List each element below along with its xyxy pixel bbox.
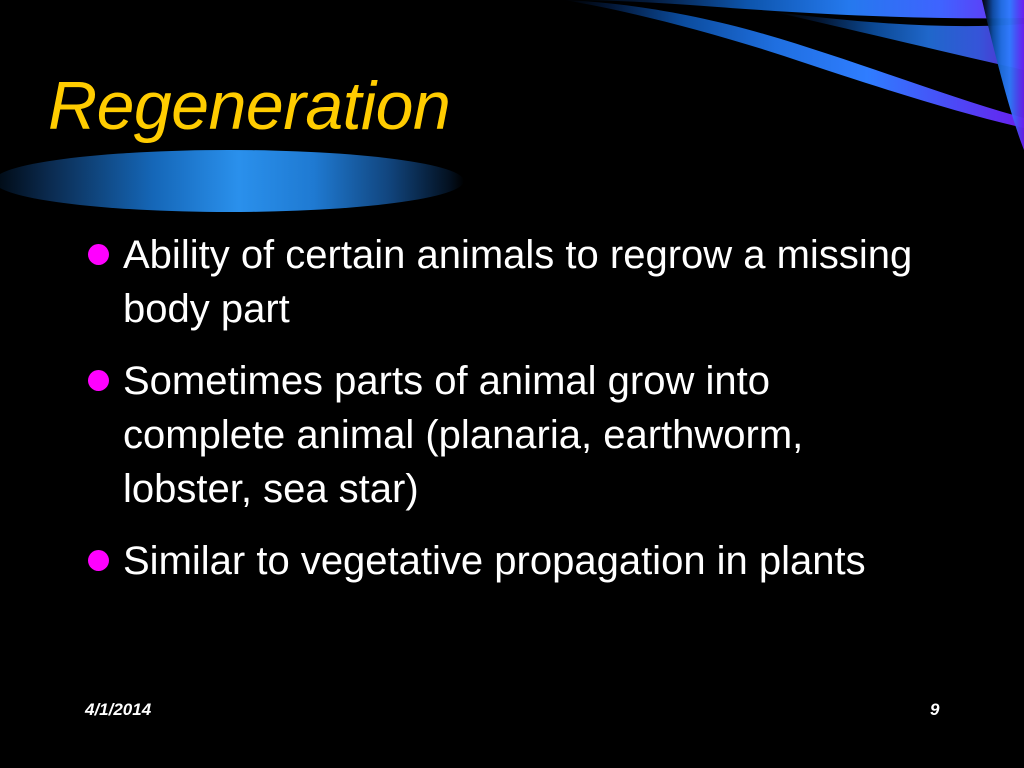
bullet-dot-icon <box>88 244 109 265</box>
swoosh-band-upper <box>564 0 1024 18</box>
page-title: Regeneration <box>48 72 450 140</box>
bullet-dot-icon <box>88 370 109 391</box>
list-item: Ability of certain animals to regrow a m… <box>88 228 918 336</box>
slide: Regeneration Ability of certain animals … <box>0 0 1024 768</box>
bullet-list: Ability of certain animals to regrow a m… <box>88 228 918 606</box>
swoosh-arc-secondary <box>774 12 1024 70</box>
footer-page-number: 9 <box>930 700 939 720</box>
swoosh-edge-wedge <box>982 0 1024 150</box>
list-item: Sometimes parts of animal grow into comp… <box>88 354 918 516</box>
swoosh-arc-main <box>564 0 1024 128</box>
corner-swoosh-svg <box>384 0 1024 200</box>
slide-footer: 4/1/2014 9 <box>0 700 1024 734</box>
corner-swoosh-decoration <box>384 0 1024 200</box>
bullet-dot-icon <box>88 550 109 571</box>
list-item: Similar to vegetative propagation in pla… <box>88 534 918 588</box>
bullet-text: Similar to vegetative propagation in pla… <box>123 534 918 588</box>
bullet-text: Ability of certain animals to regrow a m… <box>123 228 918 336</box>
bullet-text: Sometimes parts of animal grow into comp… <box>123 354 918 516</box>
footer-date: 4/1/2014 <box>85 700 151 720</box>
title-underline-ellipse <box>0 150 464 212</box>
